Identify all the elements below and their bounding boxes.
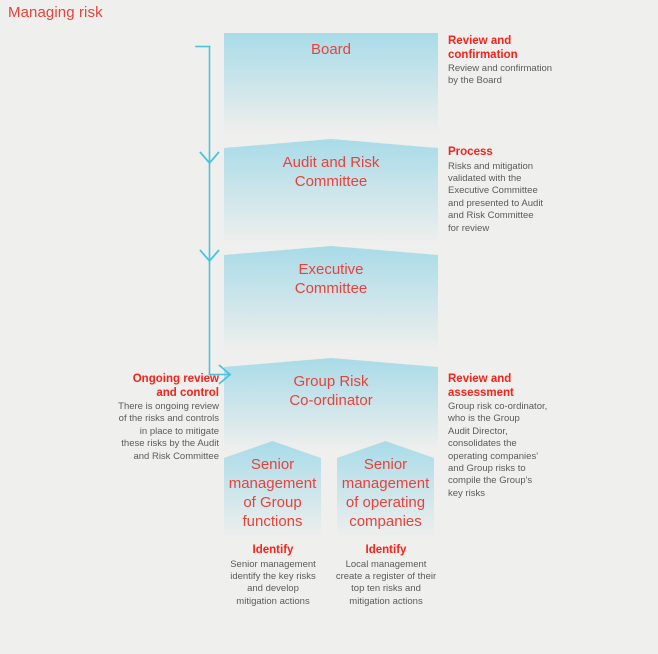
note-ongoing-review-and-control: Ongoing review and control There is ongo… bbox=[8, 373, 219, 463]
box-senior-group-functions-label: Senior management of Group functions bbox=[229, 455, 317, 531]
note-review-and-assessment-body: Group risk co-ordinator, who is the Grou… bbox=[448, 401, 653, 500]
note-identify-operating-companies-body: Local management create a register of th… bbox=[329, 559, 443, 609]
page-title: Managing risk bbox=[8, 4, 103, 21]
arrowhead-down-executive bbox=[200, 250, 219, 261]
arrowhead-down-audit-risk bbox=[200, 152, 219, 163]
box-executive: Executive Committee bbox=[224, 246, 438, 351]
note-ongoing-review-and-control-heading: Ongoing review and control bbox=[8, 373, 219, 400]
box-senior-group-functions: Senior management of Group functions bbox=[224, 441, 321, 538]
box-audit-risk: Audit and Risk Committee bbox=[224, 139, 438, 244]
box-executive-label: Executive Committee bbox=[295, 260, 368, 298]
note-review-and-confirmation: Review and confirmation Review and confi… bbox=[448, 35, 653, 88]
note-identify-group-functions-body: Senior management identify the key risks… bbox=[216, 559, 330, 609]
box-group-risk: Group Risk Co-ordinator bbox=[224, 358, 438, 450]
box-audit-risk-label: Audit and Risk Committee bbox=[283, 153, 380, 191]
note-process-body: Risks and mitigation validated with the … bbox=[448, 161, 653, 235]
note-review-and-confirmation-body: Review and confirmation by the Board bbox=[448, 63, 653, 88]
managing-risk-diagram: Managing risk Board Audit and bbox=[0, 0, 658, 654]
box-senior-operating-companies: Senior management of operating companies bbox=[337, 441, 434, 538]
box-board: Board bbox=[224, 33, 438, 133]
note-review-and-assessment: Review and assessment Group risk co-ordi… bbox=[448, 373, 653, 500]
note-identify-group-functions-heading: Identify bbox=[216, 544, 330, 558]
note-identify-operating-companies: Identify Local management create a regis… bbox=[329, 544, 443, 608]
box-board-label: Board bbox=[311, 40, 351, 59]
box-group-risk-label: Group Risk Co-ordinator bbox=[289, 372, 372, 410]
note-process: Process Risks and mitigation validated w… bbox=[448, 146, 653, 235]
box-senior-operating-companies-label: Senior management of operating companies bbox=[342, 455, 430, 531]
note-review-and-confirmation-heading: Review and confirmation bbox=[448, 35, 653, 62]
note-identify-operating-companies-heading: Identify bbox=[329, 544, 443, 558]
note-review-and-assessment-heading: Review and assessment bbox=[448, 373, 653, 400]
note-process-heading: Process bbox=[448, 146, 653, 160]
note-ongoing-review-and-control-body: There is ongoing review of the risks and… bbox=[8, 401, 219, 463]
note-identify-group-functions: Identify Senior management identify the … bbox=[216, 544, 330, 608]
